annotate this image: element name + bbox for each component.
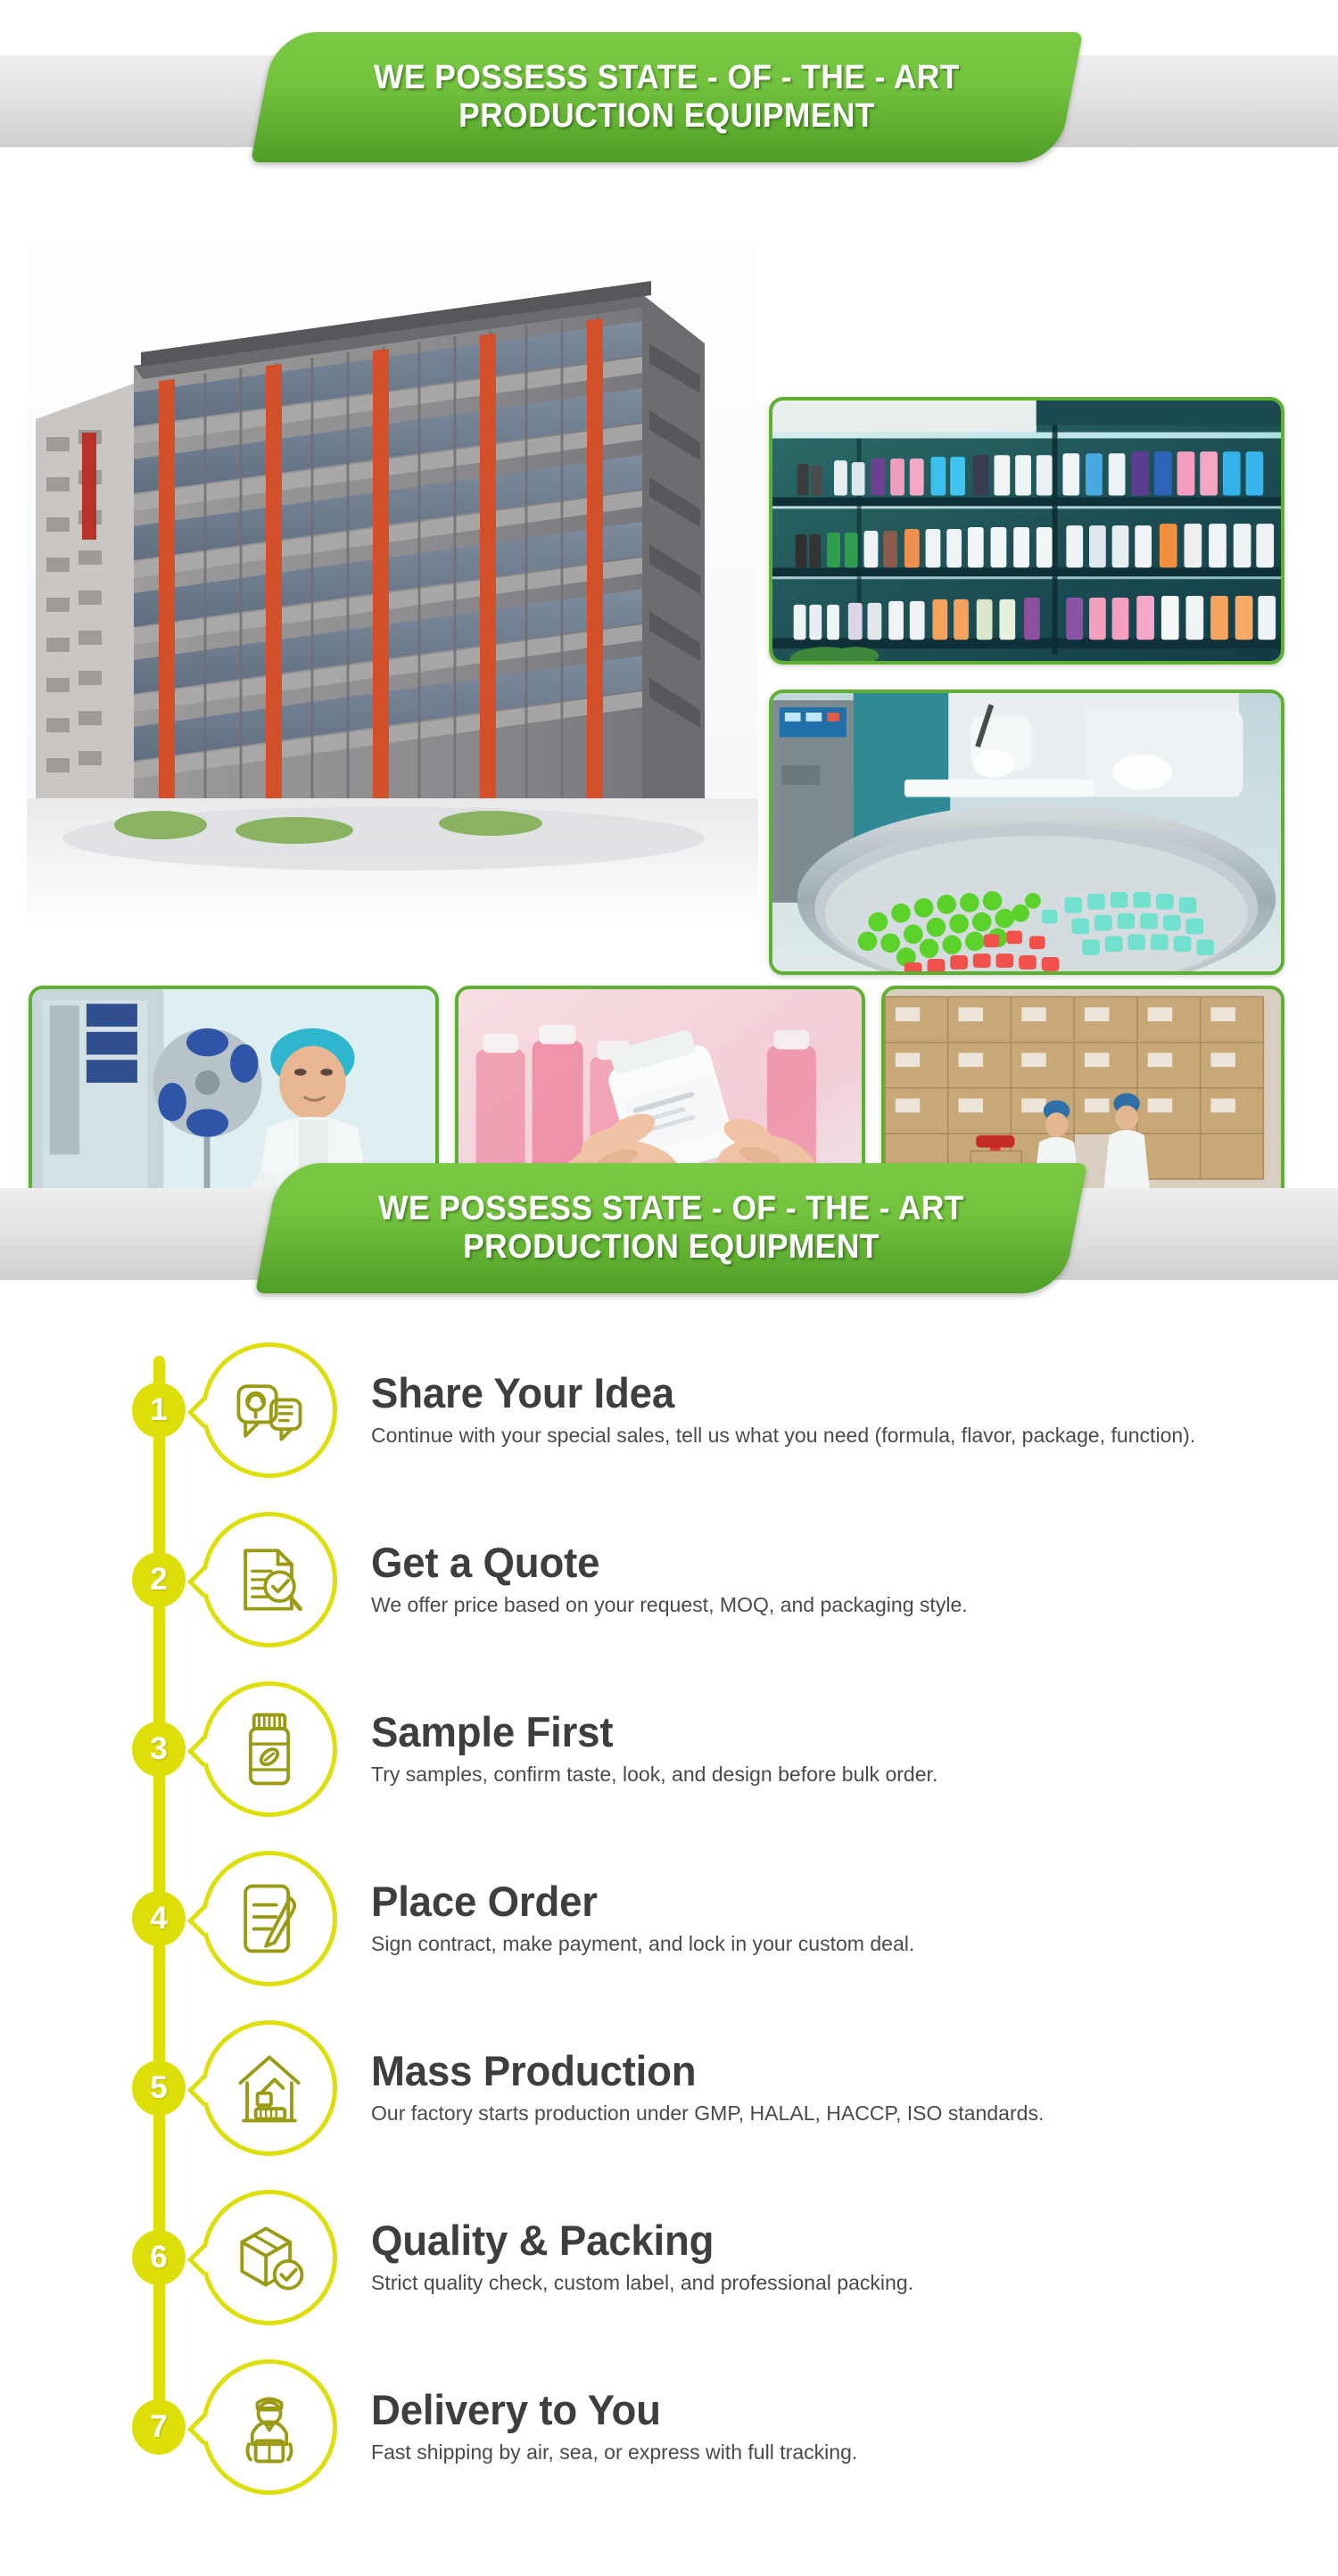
banner-title-bottom: WE POSSESS STATE - OF - THE - ART PRODUC…	[296, 1163, 1047, 1293]
step-text: Mass Production Our factory starts produ…	[371, 2049, 1058, 2126]
banner-equipment-bottom: WE POSSESS STATE - OF - THE - ART PRODUC…	[0, 1124, 1338, 1302]
step-title: Delivery to You	[371, 2388, 853, 2433]
chat-support-icon	[227, 1367, 312, 1453]
step-subtitle: We offer price based on your request, MO…	[371, 1592, 968, 1618]
process-step-1[interactable]: 1 Share Your Idea Continue with your spe…	[0, 1325, 1338, 1495]
step-icon-ring	[202, 2190, 337, 2325]
banner-title-line1-2: WE POSSESS STATE - OF - THE - ART	[378, 1190, 964, 1228]
banner-title-top: WE POSSESS STATE - OF - THE - ART PRODUC…	[292, 32, 1043, 162]
step-title: Share Your Idea	[371, 1371, 1187, 1416]
delivery-person-icon	[227, 2384, 312, 2470]
step-subtitle: Continue with your special sales, tell u…	[371, 1423, 1195, 1449]
document-magnifier-icon	[227, 1537, 312, 1622]
step-icon-ring	[202, 2020, 337, 2156]
process-step-7[interactable]: 7 Delivery to You Fast shipping by air, …	[0, 2342, 1338, 2512]
step-title: Get a Quote	[371, 1540, 962, 1586]
process-step-4[interactable]: 4 Place Order Sign contract, make paymen…	[0, 1834, 1338, 2003]
display-shelf-photo	[772, 400, 1281, 661]
photo-display-shelf	[769, 397, 1284, 665]
step-number-badge: 1	[132, 1383, 186, 1438]
step-number-badge: 7	[132, 2399, 186, 2455]
step-number-badge: 3	[132, 1721, 186, 1777]
step-text: Delivery to You Fast shipping by air, se…	[371, 2388, 867, 2465]
banner-title-line1: WE POSSESS STATE - OF - THE - ART	[374, 59, 960, 97]
step-subtitle: Strict quality check, custom label, and …	[371, 2270, 913, 2296]
step-text: Place Order Sign contract, make payment,…	[371, 1879, 926, 1957]
step-icon-ring	[202, 1851, 337, 1986]
step-subtitle: Try samples, confirm taste, look, and de…	[371, 1762, 937, 1788]
photo-gummy-pan	[769, 689, 1284, 975]
contract-pen-icon	[227, 1876, 312, 1961]
step-title: Quality & Packing	[371, 2218, 908, 2264]
step-icon-ring	[202, 1342, 337, 1478]
step-title: Place Order	[371, 1879, 909, 1925]
step-icon-ring	[202, 1512, 337, 1647]
factory-building-photo	[27, 210, 758, 932]
landing-page: WE POSSESS STATE - OF - THE - ART PRODUC…	[0, 0, 1338, 2547]
step-title: Mass Production	[371, 2049, 1037, 2094]
step-number-badge: 5	[132, 2060, 186, 2116]
step-subtitle: Our factory starts production under GMP,…	[371, 2101, 1044, 2126]
step-text: Quality & Packing Strict quality check, …	[371, 2218, 924, 2296]
process-steps-section: 1 Share Your Idea Continue with your spe…	[0, 1302, 1338, 2547]
step-title: Sample First	[371, 1710, 932, 1755]
step-icon-ring	[202, 1681, 337, 1817]
photo-collage	[0, 174, 1338, 1124]
step-text: Sample First Try samples, confirm taste,…	[371, 1710, 949, 1788]
step-number-badge: 6	[132, 2230, 186, 2285]
banner-equipment-top: WE POSSESS STATE - OF - THE - ART PRODUC…	[0, 0, 1338, 174]
banner-title-line2-2: PRODUCTION EQUIPMENT	[463, 1228, 880, 1267]
box-check-icon	[227, 2215, 312, 2300]
step-icon-ring	[202, 2359, 337, 2495]
step-number-badge: 2	[132, 1552, 186, 1607]
process-step-2[interactable]: 2 Get a Quote We offer price based on yo…	[0, 1495, 1338, 1664]
process-step-6[interactable]: 6 Quality & Packing Strict quality check…	[0, 2173, 1338, 2342]
step-number-badge: 4	[132, 1891, 186, 1946]
factory-machine-icon	[227, 2045, 312, 2131]
step-subtitle: Fast shipping by air, sea, or express wi…	[371, 2440, 857, 2465]
step-text: Get a Quote We offer price based on your…	[371, 1540, 979, 1618]
supplement-bottle-icon	[227, 1706, 312, 1792]
photo-factory-building	[27, 210, 758, 932]
gummy-pan-photo	[772, 693, 1281, 971]
process-step-5[interactable]: 5 Mass Production Our factory starts pro…	[0, 2003, 1338, 2173]
banner-title-line2: PRODUCTION EQUIPMENT	[458, 97, 875, 136]
step-text: Share Your Idea Continue with your speci…	[371, 1371, 1212, 1449]
step-subtitle: Sign contract, make payment, and lock in…	[371, 1931, 914, 1957]
process-step-3[interactable]: 3 Sample First Try samples, confirm tast…	[0, 1664, 1338, 1834]
